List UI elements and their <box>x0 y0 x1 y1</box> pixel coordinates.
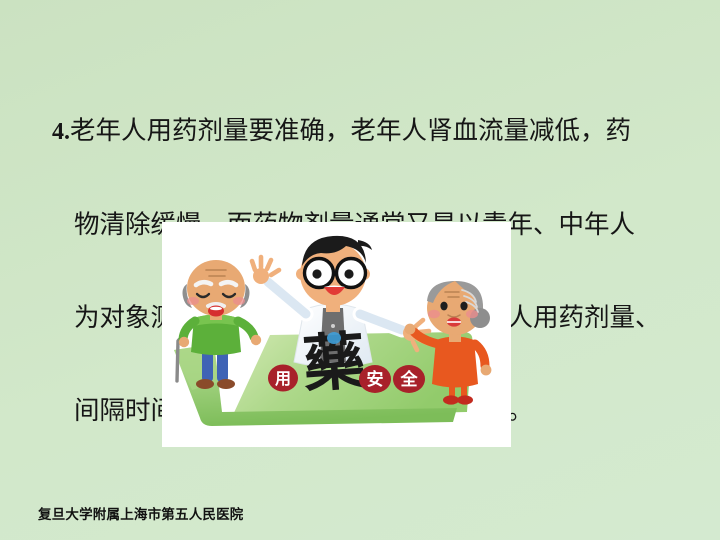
badge-quan-text: 全 <box>400 369 419 390</box>
badge-quan: 全 <box>393 365 425 393</box>
body-line-1-text: 老年人用药剂量要准确，老年人肾血流量减低，药 <box>70 116 631 146</box>
badge-yong: 用 <box>268 365 298 392</box>
bullet-number: 4. <box>52 119 70 145</box>
badge-an: 安 <box>359 365 391 393</box>
badge-yong-text: 用 <box>275 369 291 388</box>
slide-canvas: 4.老年人用药剂量要准确，老年人肾血流量减低，药 物清除缓慢，而药物剂量通常又是… <box>0 0 720 540</box>
illustration-svg: 用 藥 安 全 <box>162 222 511 447</box>
badge-an-text: 安 <box>367 369 384 390</box>
illustration-image: 用 藥 安 全 <box>162 222 511 447</box>
footer-organization: 复旦大学附属上海市第五人民医院 <box>38 503 244 523</box>
droplet-accent <box>327 332 341 344</box>
body-line-1: 4.老年人用药剂量要准确，老年人肾血流量减低，药 <box>52 116 662 148</box>
